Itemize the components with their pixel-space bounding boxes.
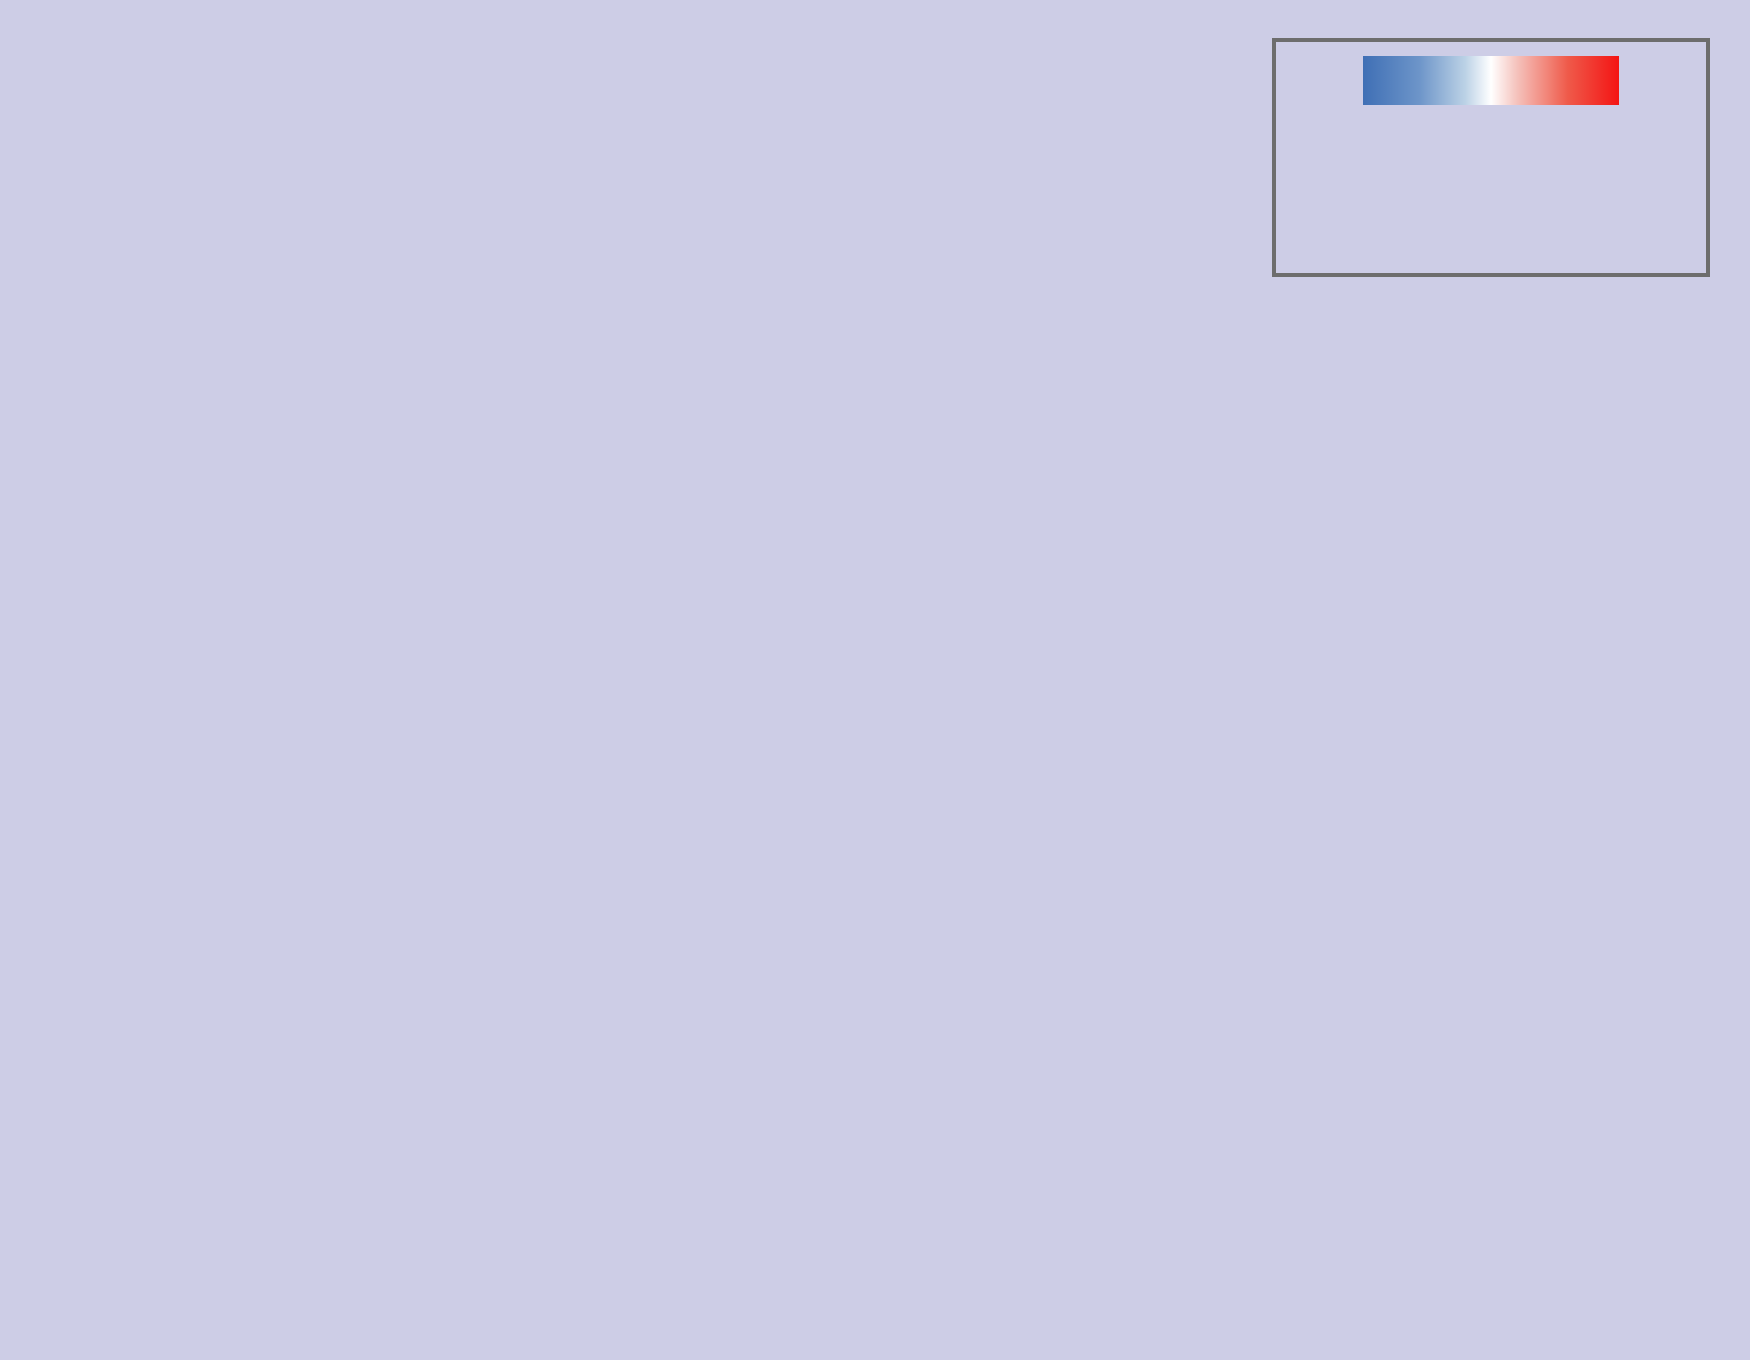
- enrichment-network-figure: [0, 0, 1750, 1360]
- legend-color-gradient-bar: [1363, 56, 1619, 105]
- legend-panel: [1272, 38, 1710, 277]
